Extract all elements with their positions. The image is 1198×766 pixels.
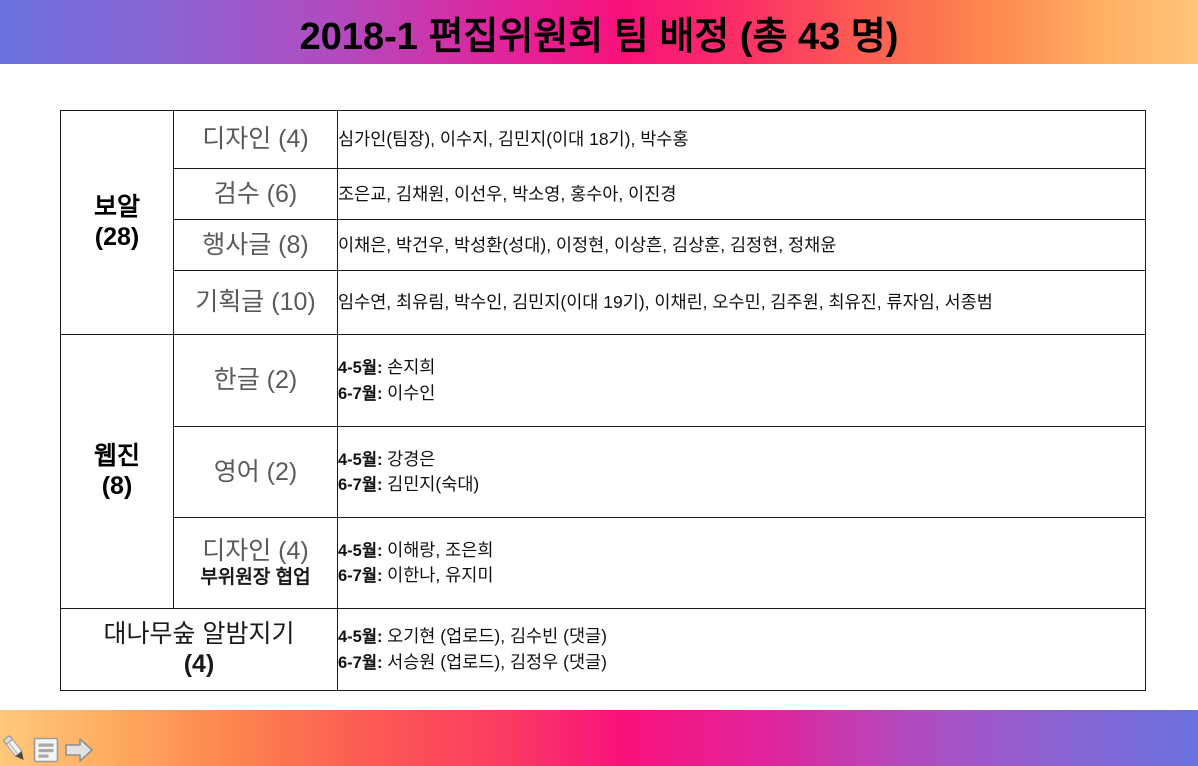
page-title: 2018-1 편집위원회 팀 배정 (총 43 명) <box>0 0 1198 64</box>
team-name: 행사글 (8) <box>202 231 309 259</box>
month-label: 6-7월: <box>338 385 387 403</box>
team-cell-planned-articles: 기획글 (10) <box>174 271 338 335</box>
group-name: 보알 <box>94 193 140 221</box>
group-cell-boal: 보알 (28) <box>61 111 174 335</box>
month-label: 4-5월: <box>338 542 387 560</box>
member-line: 6-7월: 이한나, 유지미 <box>338 563 1145 588</box>
member-line: 4-5월: 손지희 <box>338 355 1145 380</box>
team-subnote: 부위원장 협업 <box>174 567 337 589</box>
member-line: 6-7월: 이수인 <box>338 381 1145 406</box>
team-name: 한글 (2) <box>214 366 298 394</box>
bottom-gradient-banner <box>0 710 1198 766</box>
member-names: 임수연, 최유림, 박수인, 김민지(이대 19기), 이채린, 오수민, 김주… <box>338 292 993 312</box>
arrow-right-icon[interactable] <box>64 736 94 764</box>
member-line: 임수연, 최유림, 박수인, 김민지(이대 19기), 이채린, 오수민, 김주… <box>338 290 1145 315</box>
team-cell-webzine-design: 디자인 (4) 부위원장 협업 <box>174 518 338 609</box>
members-cell-english: 4-5월: 강경은 6-7월: 김민지(숙대) <box>338 427 1146 518</box>
member-line: 이채은, 박건우, 박성환(성대), 이정현, 이상흔, 김상훈, 김정현, 정… <box>338 233 1145 258</box>
team-name: 검수 (6) <box>214 180 298 208</box>
team-cell-review: 검수 (6) <box>174 169 338 220</box>
team-name: 영어 (2) <box>214 458 298 486</box>
team-cell-event-articles: 행사글 (8) <box>174 220 338 271</box>
members-cell-review: 조은교, 김채원, 이선우, 박소영, 홍수아, 이진경 <box>338 169 1146 220</box>
team-name: 기획글 (10) <box>195 288 315 316</box>
member-names: 김민지(숙대) <box>387 474 479 494</box>
team-assignment-table: 보알 (28) 디자인 (4) 심가인(팀장), 이수지, 김민지(이대 18기… <box>60 110 1146 691</box>
notes-icon[interactable] <box>32 736 60 764</box>
presentation-status-toolbar <box>2 732 94 764</box>
team-cell-hangul: 한글 (2) <box>174 335 338 427</box>
team-name: 디자인 (4) <box>202 125 309 153</box>
members-cell-design: 심가인(팀장), 이수지, 김민지(이대 18기), 박수홍 <box>338 111 1146 169</box>
members-cell-event-articles: 이채은, 박건우, 박성환(성대), 이정현, 이상흔, 김상훈, 김정현, 정… <box>338 220 1146 271</box>
member-line: 4-5월: 이해랑, 조은희 <box>338 538 1145 563</box>
table-row: 기획글 (10) 임수연, 최유림, 박수인, 김민지(이대 19기), 이채린… <box>61 271 1146 335</box>
member-line: 4-5월: 강경은 <box>338 447 1145 472</box>
member-line: 6-7월: 서승원 (업로드), 김정우 (댓글) <box>338 650 1145 675</box>
month-label: 4-5월: <box>338 451 387 469</box>
members-cell-bamboo-forest: 4-5월: 오기현 (업로드), 김수빈 (댓글) 6-7월: 서승원 (업로드… <box>338 609 1146 691</box>
table-row: 행사글 (8) 이채은, 박건우, 박성환(성대), 이정현, 이상흔, 김상훈… <box>61 220 1146 271</box>
month-label: 4-5월: <box>338 359 387 377</box>
table-row: 검수 (6) 조은교, 김채원, 이선우, 박소영, 홍수아, 이진경 <box>61 169 1146 220</box>
member-names: 심가인(팀장), 이수지, 김민지(이대 18기), 박수홍 <box>338 129 689 149</box>
table-row: 보알 (28) 디자인 (4) 심가인(팀장), 이수지, 김민지(이대 18기… <box>61 111 1146 169</box>
members-cell-planned-articles: 임수연, 최유림, 박수인, 김민지(이대 19기), 이채린, 오수민, 김주… <box>338 271 1146 335</box>
member-names: 이수인 <box>387 383 435 403</box>
month-label: 4-5월: <box>338 628 387 646</box>
members-cell-hangul: 4-5월: 손지희 6-7월: 이수인 <box>338 335 1146 427</box>
month-label: 6-7월: <box>338 476 387 494</box>
member-line: 4-5월: 오기현 (업로드), 김수빈 (댓글) <box>338 624 1145 649</box>
team-cell-design: 디자인 (4) <box>174 111 338 169</box>
group-name: 웹진 <box>94 442 140 470</box>
group-count: (28) <box>95 223 139 251</box>
member-names: 이한나, 유지미 <box>387 565 493 585</box>
member-line: 조은교, 김채원, 이선우, 박소영, 홍수아, 이진경 <box>338 182 1145 207</box>
member-names: 서승원 (업로드), 김정우 (댓글) <box>387 652 607 672</box>
group-count: (8) <box>102 472 133 500</box>
group-count: (4) <box>61 650 337 680</box>
member-names: 강경은 <box>387 449 435 469</box>
member-names: 손지희 <box>387 357 435 377</box>
member-names: 이해랑, 조은희 <box>387 540 493 560</box>
table-row: 웹진 (8) 한글 (2) 4-5월: 손지희 6-7월: 이수인 <box>61 335 1146 427</box>
member-line: 6-7월: 김민지(숙대) <box>338 472 1145 497</box>
month-label: 6-7월: <box>338 567 387 585</box>
pen-icon[interactable] <box>2 734 28 764</box>
member-names: 오기현 (업로드), 김수빈 (댓글) <box>387 626 607 646</box>
month-label: 6-7월: <box>338 654 387 672</box>
group-name: 대나무숲 알밤지기 <box>104 620 295 648</box>
table-row: 영어 (2) 4-5월: 강경은 6-7월: 김민지(숙대) <box>61 427 1146 518</box>
group-cell-webzine: 웹진 (8) <box>61 335 174 609</box>
member-names: 조은교, 김채원, 이선우, 박소영, 홍수아, 이진경 <box>338 184 676 204</box>
member-names: 이채은, 박건우, 박성환(성대), 이정현, 이상흔, 김상훈, 김정현, 정… <box>338 235 836 255</box>
members-cell-webzine-design: 4-5월: 이해랑, 조은희 6-7월: 이한나, 유지미 <box>338 518 1146 609</box>
group-cell-bamboo-forest: 대나무숲 알밤지기 (4) <box>61 609 338 691</box>
member-line: 심가인(팀장), 이수지, 김민지(이대 18기), 박수홍 <box>338 127 1145 152</box>
team-name: 디자인 (4) <box>202 537 309 565</box>
table-row: 대나무숲 알밤지기 (4) 4-5월: 오기현 (업로드), 김수빈 (댓글) … <box>61 609 1146 691</box>
team-cell-english: 영어 (2) <box>174 427 338 518</box>
table-row: 디자인 (4) 부위원장 협업 4-5월: 이해랑, 조은희 6-7월: 이한나… <box>61 518 1146 609</box>
